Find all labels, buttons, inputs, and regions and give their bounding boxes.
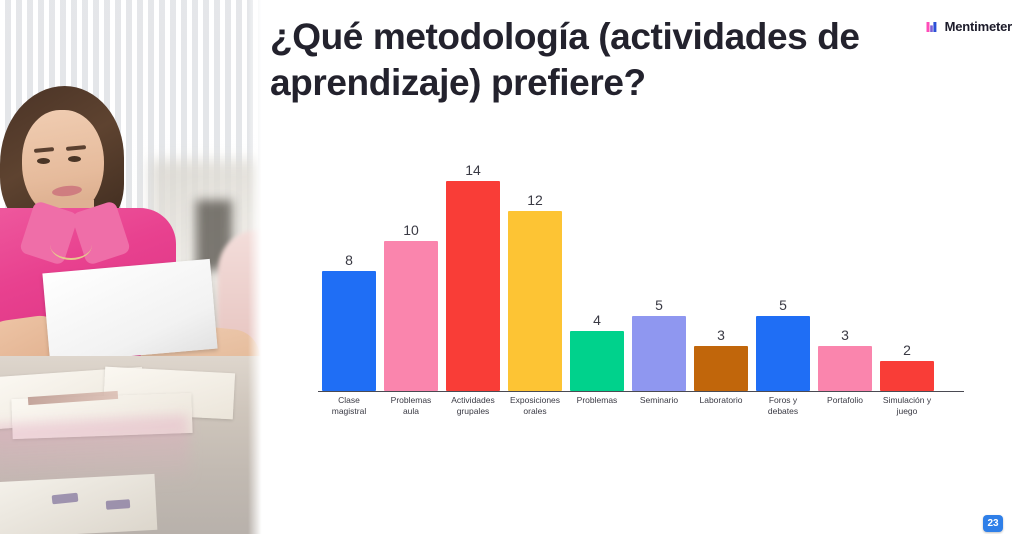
chart-x-label-line1: Exposiciones (505, 395, 565, 406)
chart-x-label-line2: orales (505, 406, 565, 417)
chart-x-label: Foros ydebates (752, 395, 814, 417)
chart-x-label: Clasemagistral (318, 395, 380, 417)
chart-x-label: Problemas (566, 395, 628, 417)
chart-bar (818, 346, 872, 391)
chart-x-label-line1: Problemas (567, 395, 627, 406)
chart-bar (570, 331, 624, 391)
bar-chart: 8101412453532 ClasemagistralProblemasaul… (318, 150, 964, 440)
chart-x-label-line2: juego (877, 406, 937, 417)
chart-bar-value-label: 4 (593, 313, 601, 327)
presentation-slide: ¿Qué metodología (actividades de aprendi… (0, 0, 1024, 534)
chart-bar-group: 12 (504, 150, 566, 391)
chart-bar (446, 181, 500, 391)
chart-x-label-line1: Problemas (381, 395, 441, 406)
chart-x-label-line1: Seminario (629, 395, 689, 406)
chart-bar-group: 3 (814, 150, 876, 391)
chart-x-label: Portafolio (814, 395, 876, 417)
photo-foreground-document (0, 474, 157, 534)
chart-bar-value-label: 14 (465, 163, 481, 177)
chart-bar (632, 316, 686, 391)
chart-x-label-line1: Actividades (443, 395, 503, 406)
chart-x-label-line2: aula (381, 406, 441, 417)
photo-edge-fade (248, 0, 262, 534)
chart-bar-group: 2 (876, 150, 938, 391)
chart-x-label-line2: grupales (443, 406, 503, 417)
chart-bar-group: 5 (752, 150, 814, 391)
chart-bar-group: 3 (690, 150, 752, 391)
chart-x-label-line1: Laboratorio (691, 395, 751, 406)
mentimeter-bars-icon (926, 20, 940, 34)
chart-bar-value-label: 3 (841, 328, 849, 342)
chart-x-label-line2: magistral (319, 406, 379, 417)
chart-plot-area: 8101412453532 (318, 150, 964, 391)
chart-bar-group: 14 (442, 150, 504, 391)
chart-bar (880, 361, 934, 391)
chart-bar-group: 10 (380, 150, 442, 391)
photo-eye-right (68, 156, 81, 162)
chart-bar (384, 241, 438, 391)
slide-photo (0, 0, 262, 534)
slide-title: ¿Qué metodología (actividades de aprendi… (270, 14, 880, 106)
chart-bar-value-label: 3 (717, 328, 725, 342)
chart-bar (694, 346, 748, 391)
chart-x-axis-line (318, 391, 964, 392)
chart-bar-value-label: 10 (403, 223, 419, 237)
chart-x-label: Simulación yjuego (876, 395, 938, 417)
mentimeter-brand: Mentimeter (926, 19, 1012, 34)
chart-bar-value-label: 8 (345, 253, 353, 267)
chart-x-label: Seminario (628, 395, 690, 417)
chart-bar-value-label: 5 (655, 298, 663, 312)
photo-necklace (50, 230, 92, 260)
mentimeter-wordmark: Mentimeter (945, 19, 1012, 34)
chart-bar-value-label: 5 (779, 298, 787, 312)
chart-x-label-line2: debates (753, 406, 813, 417)
chart-x-label: Problemasaula (380, 395, 442, 417)
chart-bar-group: 4 (566, 150, 628, 391)
photo-held-document (42, 259, 217, 363)
chart-bar-group: 8 (318, 150, 380, 391)
chart-x-label-line1: Portafolio (815, 395, 875, 406)
chart-x-label: Actividadesgrupales (442, 395, 504, 417)
chart-bar (756, 316, 810, 391)
photo-foreground-mark-2 (106, 499, 131, 510)
chart-bar-group: 5 (628, 150, 690, 391)
chart-x-axis-labels: ClasemagistralProblemasaulaActividadesgr… (318, 395, 964, 417)
chart-bar (322, 271, 376, 391)
chart-bar (508, 211, 562, 391)
page-number-badge[interactable]: 23 (983, 515, 1003, 532)
chart-x-label: Exposicionesorales (504, 395, 566, 417)
chart-bar-value-label: 12 (527, 193, 543, 207)
chart-x-label-line1: Foros y (753, 395, 813, 406)
chart-x-label-line1: Clase (319, 395, 379, 406)
chart-bar-value-label: 2 (903, 343, 911, 357)
chart-x-label-line1: Simulación y (877, 395, 937, 406)
photo-eye-left (37, 158, 50, 164)
chart-x-label: Laboratorio (690, 395, 752, 417)
